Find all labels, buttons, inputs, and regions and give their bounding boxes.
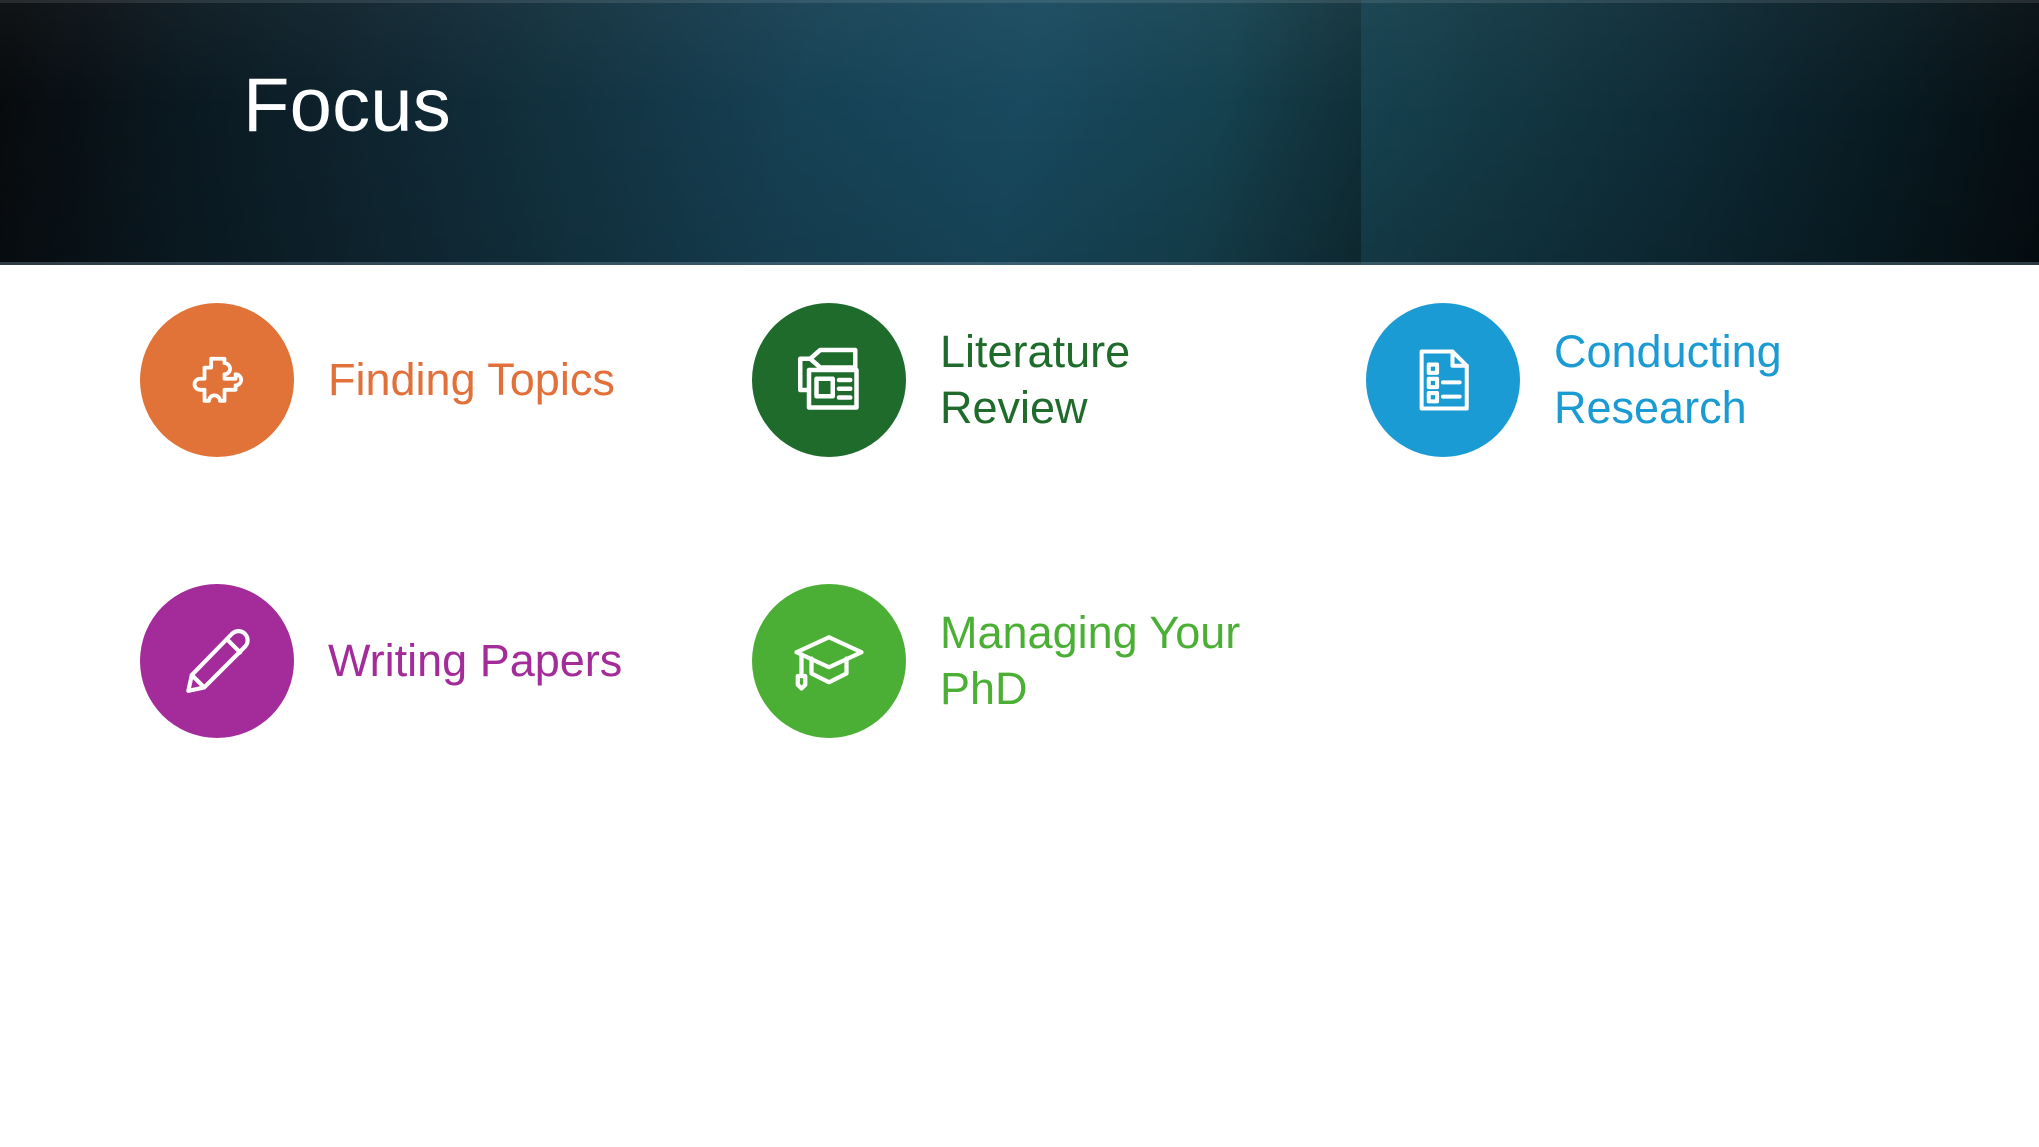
focus-icon-circle-writing-papers (140, 584, 294, 738)
focus-item-label-finding-topics: Finding Topics (328, 352, 658, 408)
graduation-cap-icon (789, 621, 869, 701)
puzzle-piece-icon (180, 343, 254, 417)
pencil-icon (178, 622, 256, 700)
focus-icon-circle-finding-topics (140, 303, 294, 457)
focus-icon-circle-managing-your-phd (752, 584, 906, 738)
header-top-edge (0, 0, 2039, 3)
focus-item-label-conducting-research: Conducting Research (1554, 324, 1894, 436)
focus-items-grid: Finding Topics (0, 265, 2039, 1147)
focus-item-finding-topics[interactable]: Finding Topics (140, 303, 658, 457)
focus-item-label-managing-your-phd: Managing Your PhD (940, 605, 1280, 717)
page-title: Focus (243, 68, 451, 144)
focus-item-label-writing-papers: Writing Papers (328, 633, 658, 689)
focus-item-writing-papers[interactable]: Writing Papers (140, 584, 658, 738)
header-panel-left (0, 0, 1361, 265)
header-panel-right (1361, 0, 2039, 265)
focus-item-literature-review[interactable]: Literature Review (752, 303, 1270, 457)
focus-item-label-literature-review: Literature Review (940, 324, 1270, 436)
document-checklist-icon (1405, 342, 1481, 418)
slide-header-banner: Focus (0, 0, 2039, 265)
focus-icon-circle-literature-review (752, 303, 906, 457)
focus-item-managing-your-phd[interactable]: Managing Your PhD (752, 584, 1280, 738)
newspaper-article-icon (789, 340, 869, 420)
focus-icon-circle-conducting-research (1366, 303, 1520, 457)
focus-item-conducting-research[interactable]: Conducting Research (1366, 303, 1894, 457)
